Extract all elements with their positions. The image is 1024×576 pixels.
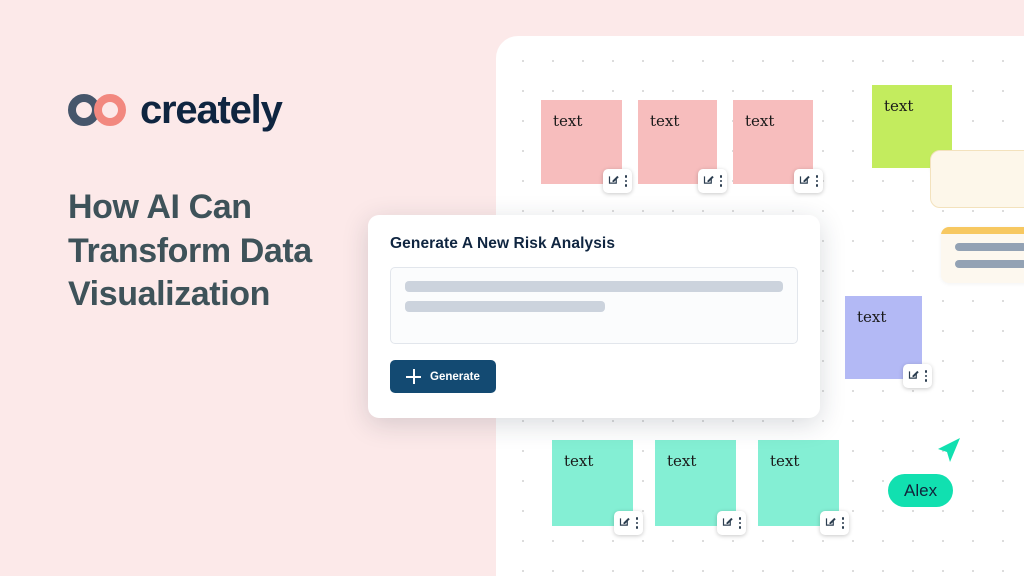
more-vertical-icon[interactable] <box>625 175 628 187</box>
more-vertical-icon[interactable] <box>842 517 845 529</box>
sticky-note-toolbar[interactable] <box>603 169 633 193</box>
input-skeleton-line-1 <box>405 281 783 292</box>
prompt-input[interactable] <box>390 267 798 344</box>
cursor-arrow-icon <box>932 438 962 470</box>
edit-pencil-icon[interactable] <box>608 172 620 190</box>
sticky-note-toolbar[interactable] <box>614 511 644 535</box>
edit-pencil-icon[interactable] <box>825 514 837 532</box>
cursor-name-badge: Alex <box>888 474 953 507</box>
sticky-note[interactable]: text <box>845 296 922 379</box>
edit-pencil-icon[interactable] <box>908 367 920 385</box>
more-vertical-icon[interactable] <box>739 517 742 529</box>
blank-card[interactable] <box>930 150 1024 208</box>
edit-pencil-icon[interactable] <box>703 172 715 190</box>
interlocking-rings-icon <box>68 94 126 126</box>
sticky-note-toolbar[interactable] <box>717 511 747 535</box>
document-card-line <box>955 243 1024 251</box>
page-title: How AI Can Transform Data Visualization <box>68 186 398 317</box>
input-skeleton-line-2 <box>405 301 605 312</box>
sticky-note-toolbar[interactable] <box>794 169 824 193</box>
generate-button[interactable]: Generate <box>390 360 496 393</box>
sticky-note[interactable]: text <box>552 440 633 526</box>
sticky-note-toolbar[interactable] <box>698 169 728 193</box>
sticky-note[interactable]: text <box>541 100 622 184</box>
logo-ring-right <box>94 94 126 126</box>
sticky-note[interactable]: text <box>655 440 736 526</box>
more-vertical-icon[interactable] <box>720 175 723 187</box>
more-vertical-icon[interactable] <box>816 175 819 187</box>
sticky-note-toolbar[interactable] <box>820 511 850 535</box>
more-vertical-icon[interactable] <box>925 370 928 382</box>
sticky-note[interactable]: text <box>638 100 717 184</box>
document-card-line <box>955 260 1024 268</box>
edit-pencil-icon[interactable] <box>619 514 631 532</box>
dialog-title: Generate A New Risk Analysis <box>390 235 798 253</box>
plus-icon <box>406 369 421 384</box>
document-card-accent-bar <box>941 227 1024 234</box>
edit-pencil-icon[interactable] <box>799 172 811 190</box>
brand-wordmark: creately <box>140 90 282 130</box>
generate-button-label: Generate <box>430 371 480 383</box>
sticky-note-toolbar[interactable] <box>903 364 933 388</box>
generate-risk-analysis-dialog[interactable]: Generate A New Risk Analysis Generate <box>368 215 820 418</box>
document-card[interactable] <box>941 227 1024 283</box>
more-vertical-icon[interactable] <box>636 517 639 529</box>
sticky-note[interactable]: text <box>758 440 839 526</box>
edit-pencil-icon[interactable] <box>722 514 734 532</box>
brand-logo[interactable]: creately <box>68 90 282 130</box>
sticky-note[interactable]: text <box>733 100 813 184</box>
